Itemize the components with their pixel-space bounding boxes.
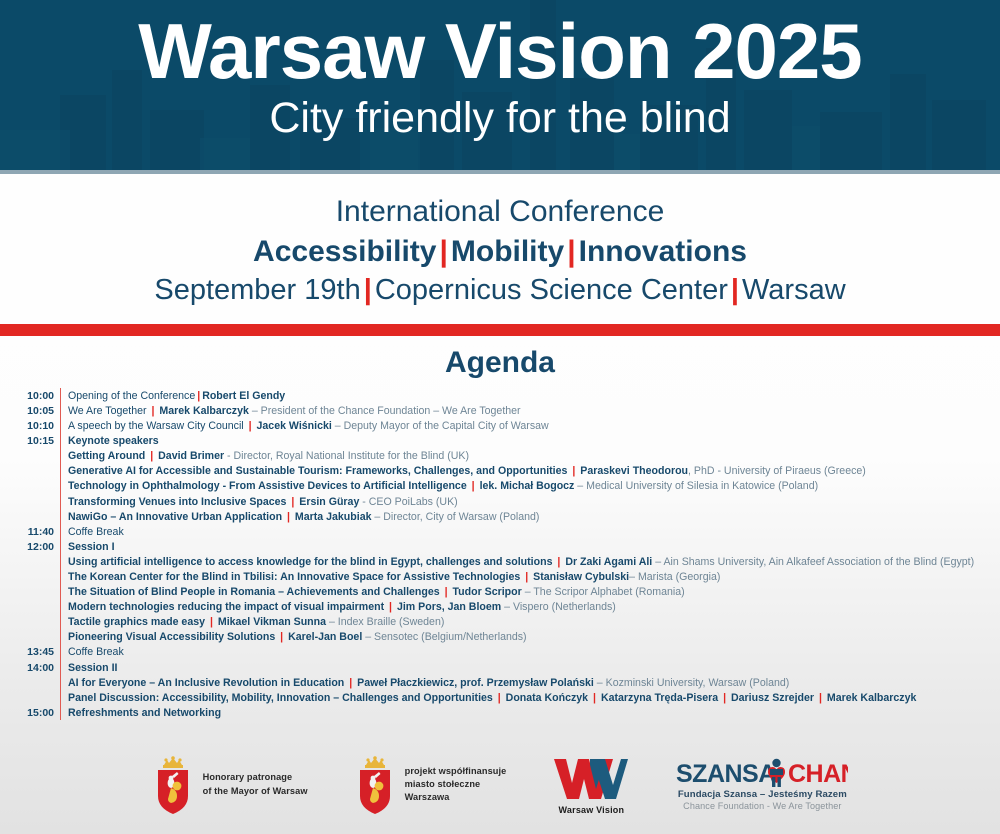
agenda-entry: Coffe Break [61, 524, 986, 539]
footer-logos: Honorary patronage of the Mayor of Warsa… [0, 735, 1000, 834]
szansa-logo-block: SZANSA CHANCE Fundacja Szansa – Jesteśmy… [676, 758, 848, 811]
agenda-heading: Agenda [0, 336, 1000, 388]
agenda-row: AI for Everyone – An Inclusive Revolutio… [14, 675, 986, 690]
cofinance-line2: miasto stołeczne [405, 778, 507, 791]
agenda-affiliation-text: – Director, City of Warsaw (Poland) [371, 511, 539, 523]
agenda-row: 14:00Session II [14, 660, 986, 675]
agenda-row: 12:00Session I [14, 539, 986, 554]
agenda-bold-text: Robert El Gendy [202, 390, 285, 402]
agenda-time [14, 569, 60, 570]
agenda-bold-text: Dr Zaki Agami Ali [562, 556, 652, 568]
agenda-bold-text: Marek Kalbarczyk [824, 692, 916, 704]
agenda-time [14, 494, 60, 495]
agenda-row: 13:45Coffe Break [14, 645, 986, 660]
agenda-entry: Panel Discussion: Accessibility, Mobilit… [61, 690, 986, 705]
agenda-time [14, 600, 60, 601]
agenda-bold-text: Tactile graphics made easy [68, 616, 208, 628]
agenda-entry: Keynote speakers [61, 434, 986, 449]
agenda-row: 10:05We Are Together | Marek Kalbarczyk … [14, 403, 986, 418]
agenda-bold-text: David Brimer [155, 450, 224, 462]
agenda-entry: AI for Everyone – An Inclusive Revolutio… [61, 675, 986, 690]
agenda-affiliation-text: – President of the Chance Foundation – W… [249, 405, 521, 417]
theme-separator-icon: | [436, 235, 450, 268]
agenda-bold-text: lek. Michał Bogocz [477, 480, 575, 492]
agenda-affiliation-text: - CEO PoiLabs (UK) [359, 496, 457, 508]
agenda-bold-text: The Situation of Blind People in Romania… [68, 586, 443, 598]
agenda-time [14, 675, 60, 676]
agenda-entry: Coffe Break [61, 645, 986, 660]
pipe-separator-icon: | [387, 601, 394, 613]
agenda-row: 15:00Refreshments and Networking [14, 705, 986, 720]
agenda-time [14, 690, 60, 691]
agenda-bold-text: Transforming Venues into Inclusive Space… [68, 496, 289, 508]
agenda-bold-text: Ersin Güray [296, 496, 359, 508]
pipe-separator-icon: | [443, 586, 450, 598]
szansa-chance-wordmark-icon: SZANSA CHANCE [676, 758, 848, 788]
agenda-row: 10:10A speech by the Warsaw City Council… [14, 419, 986, 434]
agenda-entry: We Are Together | Marek Kalbarczyk – Pre… [61, 403, 986, 418]
agenda-time [14, 554, 60, 555]
pipe-separator-icon: | [721, 692, 728, 704]
agenda-row: Technology in Ophthalmology - From Assis… [14, 479, 986, 494]
agenda-entry: Modern technologies reducing the impact … [61, 600, 986, 615]
warsaw-vision-logo-block: Warsaw Vision [552, 755, 630, 815]
agenda-bold-text: Session I [68, 541, 115, 553]
agenda-bold-text: Refreshments and Networking [68, 707, 221, 719]
agenda-bold-text: Marta Jakubiak [292, 511, 372, 523]
agenda-entry: Pioneering Visual Accessibility Solution… [61, 630, 986, 645]
agenda-entry: Generative AI for Accessible and Sustain… [61, 464, 986, 479]
patronage-line1: Honorary patronage [203, 771, 308, 784]
agenda-row: Panel Discussion: Accessibility, Mobilit… [14, 690, 986, 705]
conference-city: Warsaw [742, 274, 846, 306]
theme-innovations: Innovations [579, 235, 747, 268]
agenda-entry: Refreshments and Networking [61, 705, 986, 720]
agenda-time: 13:45 [14, 645, 60, 660]
agenda-time [14, 464, 60, 465]
agenda-time: 15:00 [14, 705, 60, 720]
pipe-separator-icon: | [208, 616, 215, 628]
agenda-entry: NawiGo – An Innovative Urban Application… [61, 509, 986, 524]
agenda-row: Using artificial intelligence to access … [14, 554, 986, 569]
red-divider-bar [0, 324, 1000, 336]
agenda-bold-text: Modern technologies reducing the impact … [68, 601, 387, 613]
patronage-line2: of the Mayor of Warsaw [203, 785, 308, 798]
agenda-bold-text: Donata Kończyk [503, 692, 591, 704]
agenda-time [14, 615, 60, 616]
agenda-title-text: Coffe Break [68, 526, 124, 538]
agenda-affiliation-text: – Index Braille (Sweden) [326, 616, 444, 628]
cofinance-line3: Warszawa [405, 791, 507, 804]
agenda-affiliation-text: – The Scripor Alphabet (Romania) [522, 586, 685, 598]
agenda-bold-text: Session II [68, 662, 117, 674]
detail-separator-icon: | [361, 274, 375, 306]
agenda-affiliation-text: – Medical University of Silesia in Katow… [574, 480, 818, 492]
pipe-separator-icon: | [470, 480, 477, 492]
agenda-row: Generative AI for Accessible and Sustain… [14, 464, 986, 479]
pipe-separator-icon: | [247, 420, 254, 432]
agenda-affiliation-text: – Kozminski University, Warsaw (Poland) [594, 677, 789, 689]
agenda-row: 11:40Coffe Break [14, 524, 986, 539]
agenda-entry: The Situation of Blind People in Romania… [61, 585, 986, 600]
detail-separator-icon: | [728, 274, 742, 306]
pipe-separator-icon: | [496, 692, 503, 704]
agenda-bold-text: Panel Discussion: Accessibility, Mobilit… [68, 692, 496, 704]
agenda-affiliation-text: – Deputy Mayor of the Capital City of Wa… [332, 420, 549, 432]
pipe-separator-icon: | [591, 692, 598, 704]
agenda-bold-text: Paraskevi Theodorou [577, 465, 688, 477]
poster-tagline: City friendly for the blind [0, 96, 1000, 141]
agenda-time: 10:00 [14, 388, 60, 403]
agenda-bold-text: Tudor Scripor [450, 586, 522, 598]
agenda-row: 10:15Keynote speakers [14, 434, 986, 449]
agenda-row: The Korean Center for the Blind in Tbili… [14, 569, 986, 584]
conference-date-venue: September 19th|Copernicus Science Center… [0, 272, 1000, 308]
cofinance-line1: projekt współfinansuje [405, 765, 507, 778]
agenda-affiliation-text: – Ain Shams University, Ain Alkafeef Ass… [652, 556, 974, 568]
szansa-subtitle-en: Chance Foundation - We Are Together [683, 801, 841, 811]
agenda-bold-text: Mikael Vikman Sunna [215, 616, 326, 628]
agenda-entry: Opening of the Conference|Robert El Gend… [61, 388, 986, 403]
cofinance-caption: projekt współfinansuje miasto stołeczne … [405, 765, 507, 804]
agenda-row: Modern technologies reducing the impact … [14, 600, 986, 615]
conference-info: International Conference Accessibility|M… [0, 174, 1000, 318]
agenda-affiliation-text: - Director, Royal National Institute for… [224, 450, 469, 462]
agenda-time: 10:10 [14, 419, 60, 434]
poster-header: Warsaw Vision 2025 City friendly for the… [0, 0, 1000, 170]
agenda-title-text: Opening of the Conference [68, 390, 195, 402]
agenda-time [14, 509, 60, 510]
agenda-affiliation-text: , PhD - University of Piraeus (Greece) [688, 465, 866, 477]
agenda-bold-text: The Korean Center for the Blind in Tbili… [68, 571, 523, 583]
theme-accessibility: Accessibility [253, 235, 436, 268]
svg-text:SZANSA: SZANSA [676, 760, 776, 788]
agenda-bold-text: Getting Around [68, 450, 148, 462]
agenda-bold-text: Marek Kalbarczyk [156, 405, 248, 417]
agenda-row: The Situation of Blind People in Romania… [14, 585, 986, 600]
agenda-bold-text: Technology in Ophthalmology - From Assis… [68, 480, 470, 492]
cofinance-logo-block: projekt współfinansuje miasto stołeczne … [354, 756, 507, 814]
agenda-bold-text: Stanisław Cybulski [530, 571, 629, 583]
agenda-entry: Session II [61, 660, 986, 675]
agenda-entry: Transforming Venues into Inclusive Space… [61, 494, 986, 509]
agenda-entry: Technology in Ophthalmology - From Assis… [61, 479, 986, 494]
agenda-row: Transforming Venues into Inclusive Space… [14, 494, 986, 509]
agenda-time: 14:00 [14, 660, 60, 675]
poster-title: Warsaw Vision 2025 [0, 12, 1000, 92]
agenda-row: Pioneering Visual Accessibility Solution… [14, 630, 986, 645]
agenda-bold-text: Pioneering Visual Accessibility Solution… [68, 631, 278, 643]
agenda-time [14, 479, 60, 480]
agenda-time [14, 630, 60, 631]
agenda-row: 10:00Opening of the Conference|Robert El… [14, 388, 986, 403]
svg-text:CHANCE: CHANCE [788, 760, 848, 788]
theme-separator-icon: | [564, 235, 578, 268]
agenda-bold-text: Karel-Jan Boel [285, 631, 362, 643]
warsaw-coat-of-arms-icon [354, 756, 396, 814]
agenda-bold-text: Generative AI for Accessible and Sustain… [68, 465, 570, 477]
agenda-bold-text: Jacek Wiśnicki [254, 420, 332, 432]
agenda-bold-text: Jim Pors, Jan Bloem [394, 601, 501, 613]
agenda-row: Tactile graphics made easy | Mikael Vikm… [14, 615, 986, 630]
agenda-time: 12:00 [14, 539, 60, 554]
agenda-entry: A speech by the Warsaw City Council | Ja… [61, 419, 986, 434]
agenda-bold-text: AI for Everyone – An Inclusive Revolutio… [68, 677, 347, 689]
patronage-caption: Honorary patronage of the Mayor of Warsa… [203, 771, 308, 797]
agenda-affiliation-text: – Sensotec (Belgium/Netherlands) [362, 631, 526, 643]
agenda-bold-text: Katarzyna Tręda-Pisera [598, 692, 721, 704]
agenda-time: 11:40 [14, 524, 60, 539]
agenda-entry: The Korean Center for the Blind in Tbili… [61, 569, 986, 584]
agenda-bold-text: Keynote speakers [68, 435, 159, 447]
conference-date: September 19th [154, 274, 360, 306]
warsaw-vision-caption: Warsaw Vision [559, 805, 625, 815]
agenda-time [14, 585, 60, 586]
agenda-time [14, 449, 60, 450]
patronage-logo-block: Honorary patronage of the Mayor of Warsa… [152, 756, 308, 814]
agenda-row: NawiGo – An Innovative Urban Application… [14, 509, 986, 524]
agenda-affiliation-text: – Marista (Georgia) [629, 571, 720, 583]
agenda-title-text: A speech by the Warsaw City Council [68, 420, 247, 432]
agenda-entry: Session I [61, 539, 986, 554]
warsaw-coat-of-arms-icon [152, 756, 194, 814]
agenda-entry: Tactile graphics made easy | Mikael Vikm… [61, 615, 986, 630]
conference-themes: Accessibility|Mobility|Innovations [0, 233, 1000, 271]
agenda-time: 10:05 [14, 403, 60, 418]
szansa-subtitle-pl: Fundacja Szansa – Jesteśmy Razem [678, 789, 847, 800]
agenda-time: 10:15 [14, 434, 60, 449]
agenda-entry: Using artificial intelligence to access … [61, 554, 986, 569]
pipe-separator-icon: | [817, 692, 824, 704]
theme-mobility: Mobility [451, 235, 564, 268]
pipe-separator-icon: | [285, 511, 292, 523]
agenda-affiliation-text: – Vispero (Netherlands) [501, 601, 616, 613]
conference-poster: Warsaw Vision 2025 City friendly for the… [0, 0, 1000, 834]
agenda-row: Getting Around | David Brimer - Director… [14, 449, 986, 464]
agenda-bold-text: Dariusz Szrejder [728, 692, 817, 704]
agenda-title-text: Coffe Break [68, 646, 124, 658]
conference-type: International Conference [0, 194, 1000, 231]
agenda-title-text: We Are Together [68, 405, 149, 417]
agenda-bold-text: Paweł Płaczkiewicz, prof. Przemysław Pol… [354, 677, 594, 689]
conference-venue: Copernicus Science Center [375, 274, 728, 306]
agenda-entry: Getting Around | David Brimer - Director… [61, 449, 986, 464]
agenda-bold-text: Using artificial intelligence to access … [68, 556, 555, 568]
agenda-bold-text: NawiGo – An Innovative Urban Application [68, 511, 285, 523]
wv-monogram-icon [552, 755, 630, 803]
agenda-table: 10:00Opening of the Conference|Robert El… [0, 388, 1000, 720]
